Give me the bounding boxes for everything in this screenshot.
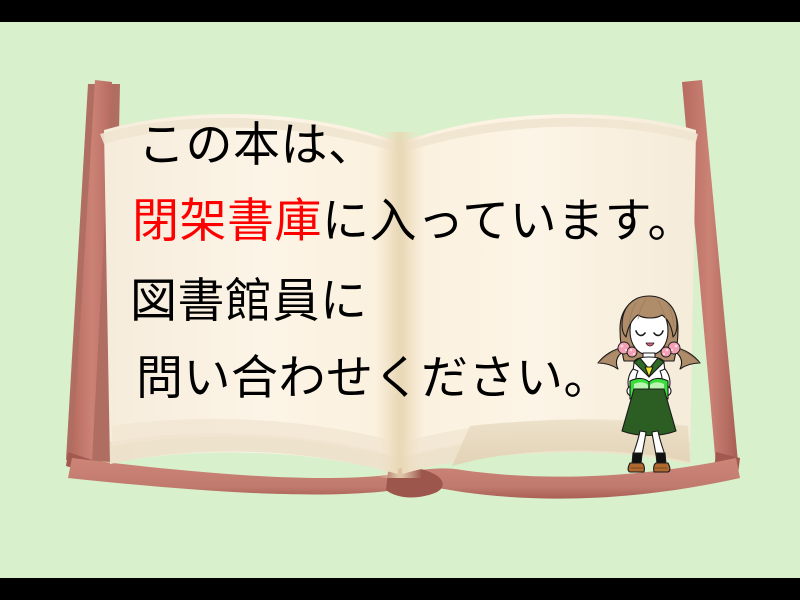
letterbox-top: [0, 0, 800, 22]
girl-reading-icon: [588, 285, 710, 475]
letterbox-bottom: [0, 578, 800, 600]
screenshot-stage: この本は、 閉架書庫に入っています。 図書館員に 問い合わせください。: [0, 0, 800, 600]
